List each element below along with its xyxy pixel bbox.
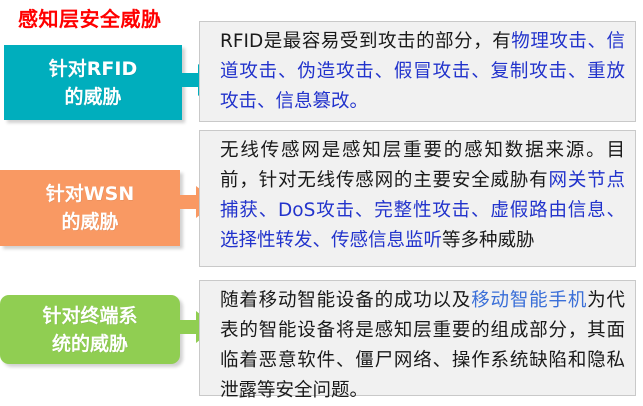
content-text-wsn: 无线传感网是感知层重要的感知数据来源。目前，针对无线传感网的主要安全威胁有网关节… [220,136,625,256]
slide-canvas: 感知层安全威胁 针对RFID 的威胁 RFID是最容易受到攻击的部分，有物理攻击… [0,0,643,401]
label-box-wsn[interactable]: 针对WSN 的威胁 [0,170,180,246]
content-segment-plain: RFID是最容易受到攻击的部分，有 [220,31,511,52]
content-box-wsn: 无线传感网是感知层重要的感知数据来源。目前，针对无线传感网的主要安全威胁有网关节… [199,130,636,267]
content-segment-plain: 随着移动智能设备的成功以及 [220,290,471,311]
label-box-rfid-text: 针对RFID 的威胁 [4,55,182,111]
content-box-terminal: 随着移动智能设备的成功以及移动智能手机为代表的智能设备将是感知层重要的组成部分，… [199,280,636,396]
label-box-rfid[interactable]: 针对RFID 的威胁 [4,45,182,120]
content-text-terminal: 随着移动智能设备的成功以及移动智能手机为代表的智能设备将是感知层重要的组成部分，… [220,286,625,406]
content-segment-plain-tail: 等多种威胁 [442,230,535,251]
content-segment-highlight: 移动智能手机 [471,290,587,311]
page-title: 感知层安全威胁 [18,6,162,32]
content-box-rfid: RFID是最容易受到攻击的部分，有物理攻击、信道攻击、伪造攻击、假冒攻击、复制攻… [199,21,636,122]
label-box-terminal[interactable]: 针对终端系 统的威胁 [0,295,180,364]
content-text-rfid: RFID是最容易受到攻击的部分，有物理攻击、信道攻击、伪造攻击、假冒攻击、复制攻… [220,27,625,117]
label-box-wsn-text: 针对WSN 的威胁 [0,180,180,236]
label-box-terminal-text: 针对终端系 统的威胁 [0,302,180,358]
